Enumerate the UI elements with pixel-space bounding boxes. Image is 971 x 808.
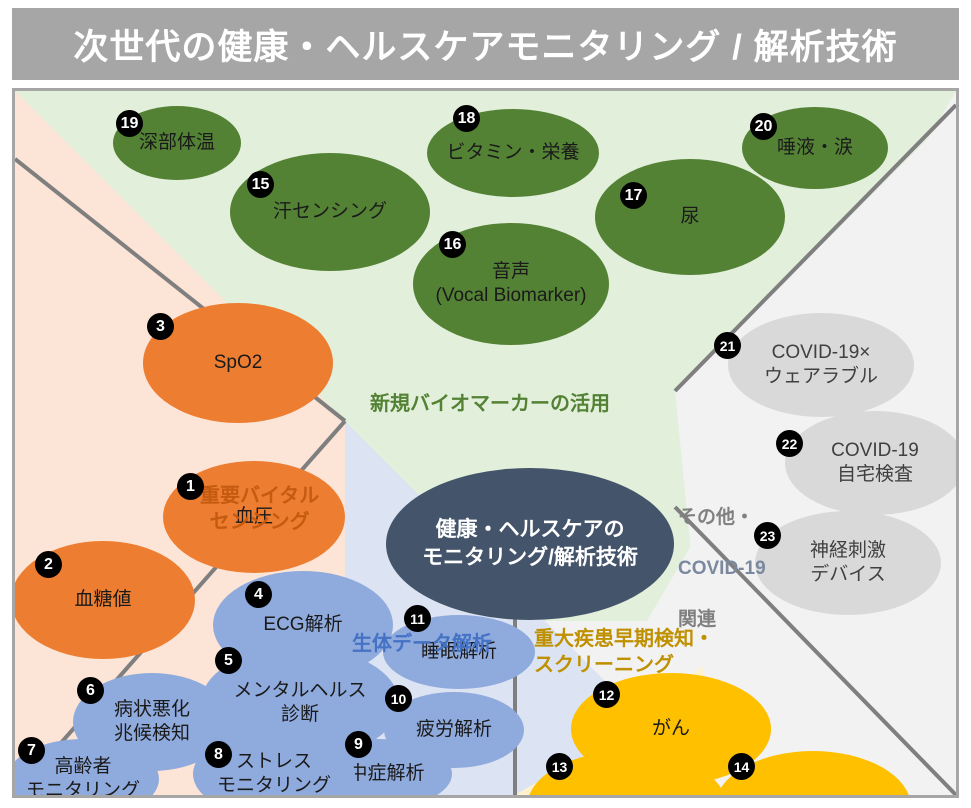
item-label-6: 病状悪化 兆候検知 [114,698,190,746]
region-caption-gray-line2: COVID-19 [678,556,766,582]
item-badge-8[interactable]: 8 [205,741,232,768]
region-caption-gray-line3: 関連 [678,607,766,633]
item-label-17: 尿 [680,205,699,229]
item-label-23: 神経刺激 デバイス [810,539,886,587]
item-label-8: ストレス モニタリング [217,750,331,798]
item-label-21: COVID-19× ウェアラブル [764,341,878,389]
item-badge-11[interactable]: 11 [404,605,431,632]
center-node-label: 健康・ヘルスケアの モニタリング/解析技術 [422,516,638,573]
page-title-banner: 次世代の健康・ヘルスケアモニタリング / 解析技術 [12,8,959,80]
page-title: 次世代の健康・ヘルスケアモニタリング / 解析技術 [73,19,897,70]
item-badge-9[interactable]: 9 [345,731,372,758]
item-badge-22[interactable]: 22 [776,430,803,457]
item-badge-17[interactable]: 17 [620,182,647,209]
item-badge-21[interactable]: 21 [714,332,741,359]
center-node[interactable]: 健康・ヘルスケアの モニタリング/解析技術 [386,468,674,620]
item-label-20: 唾液・涙 [777,136,853,160]
item-label-2: 血糖値 [74,588,131,612]
item-badge-1[interactable]: 1 [177,473,204,500]
item-bubble-23[interactable]: 神経刺激 デバイス [755,511,941,615]
item-badge-3[interactable]: 3 [147,313,174,340]
region-caption-blue: 生体データ解析 [352,631,492,657]
item-bubble-22[interactable]: COVID-19 自宅検査 [785,411,959,515]
item-badge-7[interactable]: 7 [18,737,45,764]
item-badge-12[interactable]: 12 [593,681,620,708]
item-bubble-17[interactable]: 尿 [595,159,785,275]
item-badge-4[interactable]: 4 [245,581,272,608]
item-bubble-21[interactable]: COVID-19× ウェアラブル [728,313,914,417]
item-label-3: SpO2 [214,351,263,375]
region-caption-green: 新規バイオマーカーの活用 [370,391,610,417]
item-label-13: アルツハイマー [561,795,693,798]
item-label-10: 疲労解析 [416,718,492,742]
item-label-14: 脳卒中 [784,795,841,798]
item-badge-14[interactable]: 14 [728,753,755,780]
item-badge-19[interactable]: 19 [116,110,143,137]
item-badge-5[interactable]: 5 [215,647,242,674]
item-label-7: 高齢者 モニタリング [26,755,140,798]
item-label-4: ECG解析 [263,613,342,637]
item-label-19: 深部体温 [139,131,215,155]
diagram-canvas: 新規バイオマーカーの活用 重要バイタル センシング 生体データ解析 重大疾患早期… [12,88,959,798]
item-badge-6[interactable]: 6 [77,677,104,704]
region-caption-gray: その他・ COVID-19 関連 [678,479,766,658]
item-label-22: COVID-19 自宅検査 [831,439,919,487]
item-label-12: がん [652,717,690,741]
region-caption-orange: 重要バイタル センシング [200,483,319,535]
item-label-5: メンタルヘルス 診断 [233,679,366,727]
region-caption-gray-line1: その他・ [678,505,766,531]
item-badge-2[interactable]: 2 [35,551,62,578]
item-label-18: ビタミン・栄養 [446,141,579,165]
item-label-16: 音声 (Vocal Biomarker) [436,260,587,308]
item-badge-10[interactable]: 10 [385,685,412,712]
item-badge-23[interactable]: 23 [754,522,781,549]
diagram-page: 次世代の健康・ヘルスケアモニタリング / 解析技術 [0,0,971,808]
item-badge-15[interactable]: 15 [247,171,274,198]
item-badge-16[interactable]: 16 [439,231,466,258]
item-badge-13[interactable]: 13 [546,753,573,780]
item-badge-20[interactable]: 20 [750,113,777,140]
item-badge-18[interactable]: 18 [453,105,480,132]
item-label-15: 汗センシング [273,200,387,224]
